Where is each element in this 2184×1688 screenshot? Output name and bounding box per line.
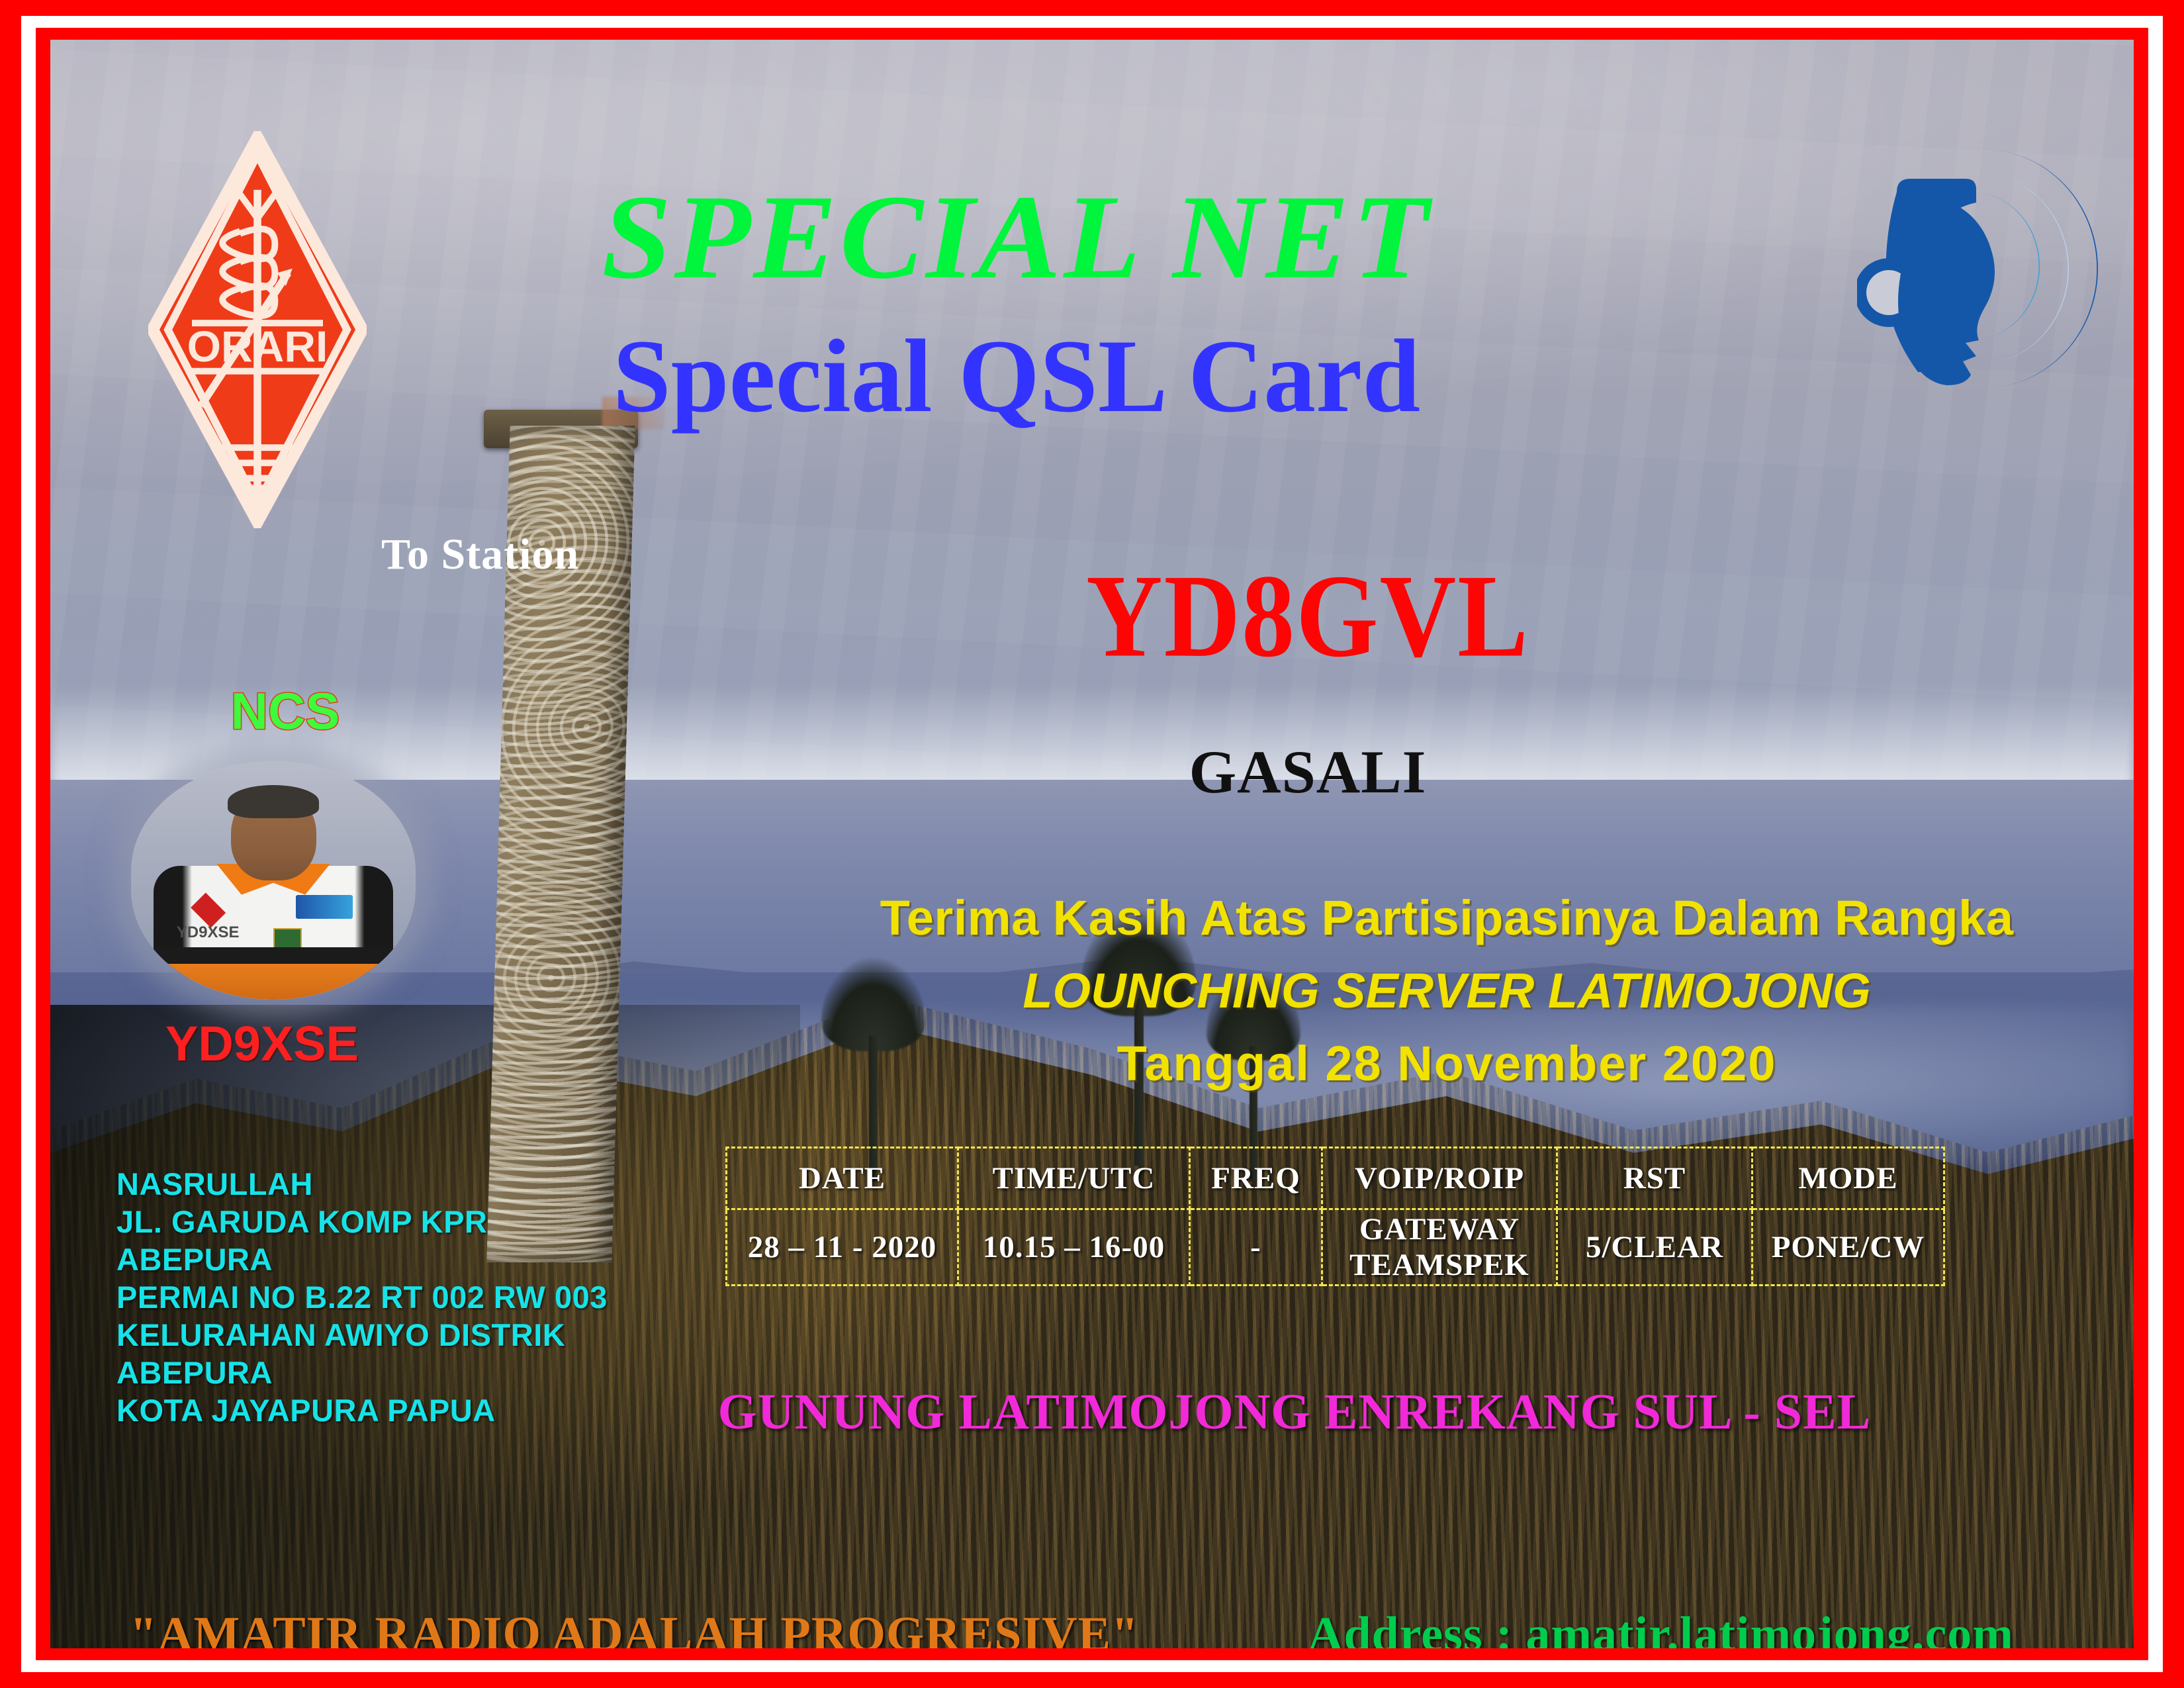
address-line: PERMAI NO B.22 RT 002 RW 003	[116, 1278, 712, 1316]
frame-white-gap: ORARI SPECIAL NE	[21, 16, 2163, 1672]
recipient-operator-name: GASALI	[844, 741, 1771, 802]
cell-time: 10.15 – 16-00	[958, 1209, 1190, 1286]
page-title-special-net: SPECIAL NET	[438, 177, 1594, 298]
col-header-rst: RST	[1557, 1148, 1752, 1209]
event-location: GUNUNG LATIMOJONG ENREKANG SUL - SEL	[646, 1387, 1943, 1437]
ncs-callsign: YD9XSE	[116, 1019, 408, 1068]
footer-slogan: "AMATIR RADIO ADALAH PROGRESIVE"	[130, 1610, 1139, 1648]
table-header-row: DATE TIME/UTC FREQ VOIP/ROIP RST MODE	[727, 1148, 1944, 1209]
to-station-label: To Station	[381, 530, 579, 580]
headset-waves-icon	[1857, 139, 2122, 397]
cell-freq: -	[1190, 1209, 1322, 1286]
orari-logo: ORARI	[148, 131, 367, 528]
address-line: KOTA JAYAPURA PAPUA	[116, 1391, 712, 1429]
col-header-mode: MODE	[1752, 1148, 1944, 1209]
cell-rst: 5/CLEAR	[1557, 1209, 1752, 1286]
card-photo-stage: ORARI SPECIAL NE	[50, 40, 2134, 1648]
frame-inner-red: ORARI SPECIAL NE	[36, 28, 2148, 1660]
qso-details-table: DATE TIME/UTC FREQ VOIP/ROIP RST MODE 28…	[725, 1147, 1945, 1286]
page-subtitle-special-qsl-card: Special QSL Card	[461, 324, 1572, 429]
cell-date: 28 – 11 - 2020	[727, 1209, 958, 1286]
address-line: ABEPURA	[116, 1241, 712, 1278]
orari-diamond-icon: ORARI	[148, 131, 367, 528]
address-line: ABEPURA	[116, 1354, 712, 1391]
thanks-line: Terima Kasih Atas Partisipasinya Dalam R…	[765, 894, 2128, 943]
col-header-date: DATE	[727, 1148, 958, 1209]
event-date: Tanggal 28 November 2020	[765, 1039, 2128, 1088]
qsl-card: ORARI SPECIAL NE	[0, 0, 2184, 1688]
col-header-time: TIME/UTC	[958, 1148, 1190, 1209]
event-title: LOUNCHING SERVER LATIMOJONG	[765, 966, 2128, 1015]
address-line: NASRULLAH	[116, 1165, 712, 1203]
footer-web-address: Address : amatir.latimojong.com	[1308, 1610, 2014, 1648]
cell-voip-line1: GATEWAY	[1324, 1211, 1555, 1247]
cell-mode: PONE/CW	[1752, 1209, 1944, 1286]
orari-logo-text: ORARI	[187, 322, 328, 371]
col-header-voip-roip: VOIP/ROIP	[1322, 1148, 1557, 1209]
content-layer: ORARI SPECIAL NE	[50, 40, 2134, 1648]
address-line: KELURAHAN AWIYO DISTRIK	[116, 1316, 712, 1354]
ncs-shirt-callsign: YD9XSE	[177, 923, 240, 942]
col-header-freq: FREQ	[1190, 1148, 1322, 1209]
table-row: 28 – 11 - 2020 10.15 – 16-00 - GATEWAY T…	[727, 1209, 1944, 1286]
address-line: JL. GARUDA KOMP KPR	[116, 1203, 712, 1241]
ncs-operator-photo: YD9XSE	[131, 761, 416, 1000]
sender-address-block: NASRULLAH JL. GARUDA KOMP KPR ABEPURA PE…	[116, 1165, 712, 1429]
ncs-label: NCS	[186, 685, 385, 737]
cell-voip-roip: GATEWAY TEAMSPEK	[1322, 1209, 1557, 1286]
recipient-callsign: YD8GVL	[844, 556, 1771, 675]
headset-operator-logo	[1857, 139, 2122, 397]
cell-voip-line2: TEAMSPEK	[1324, 1247, 1555, 1283]
